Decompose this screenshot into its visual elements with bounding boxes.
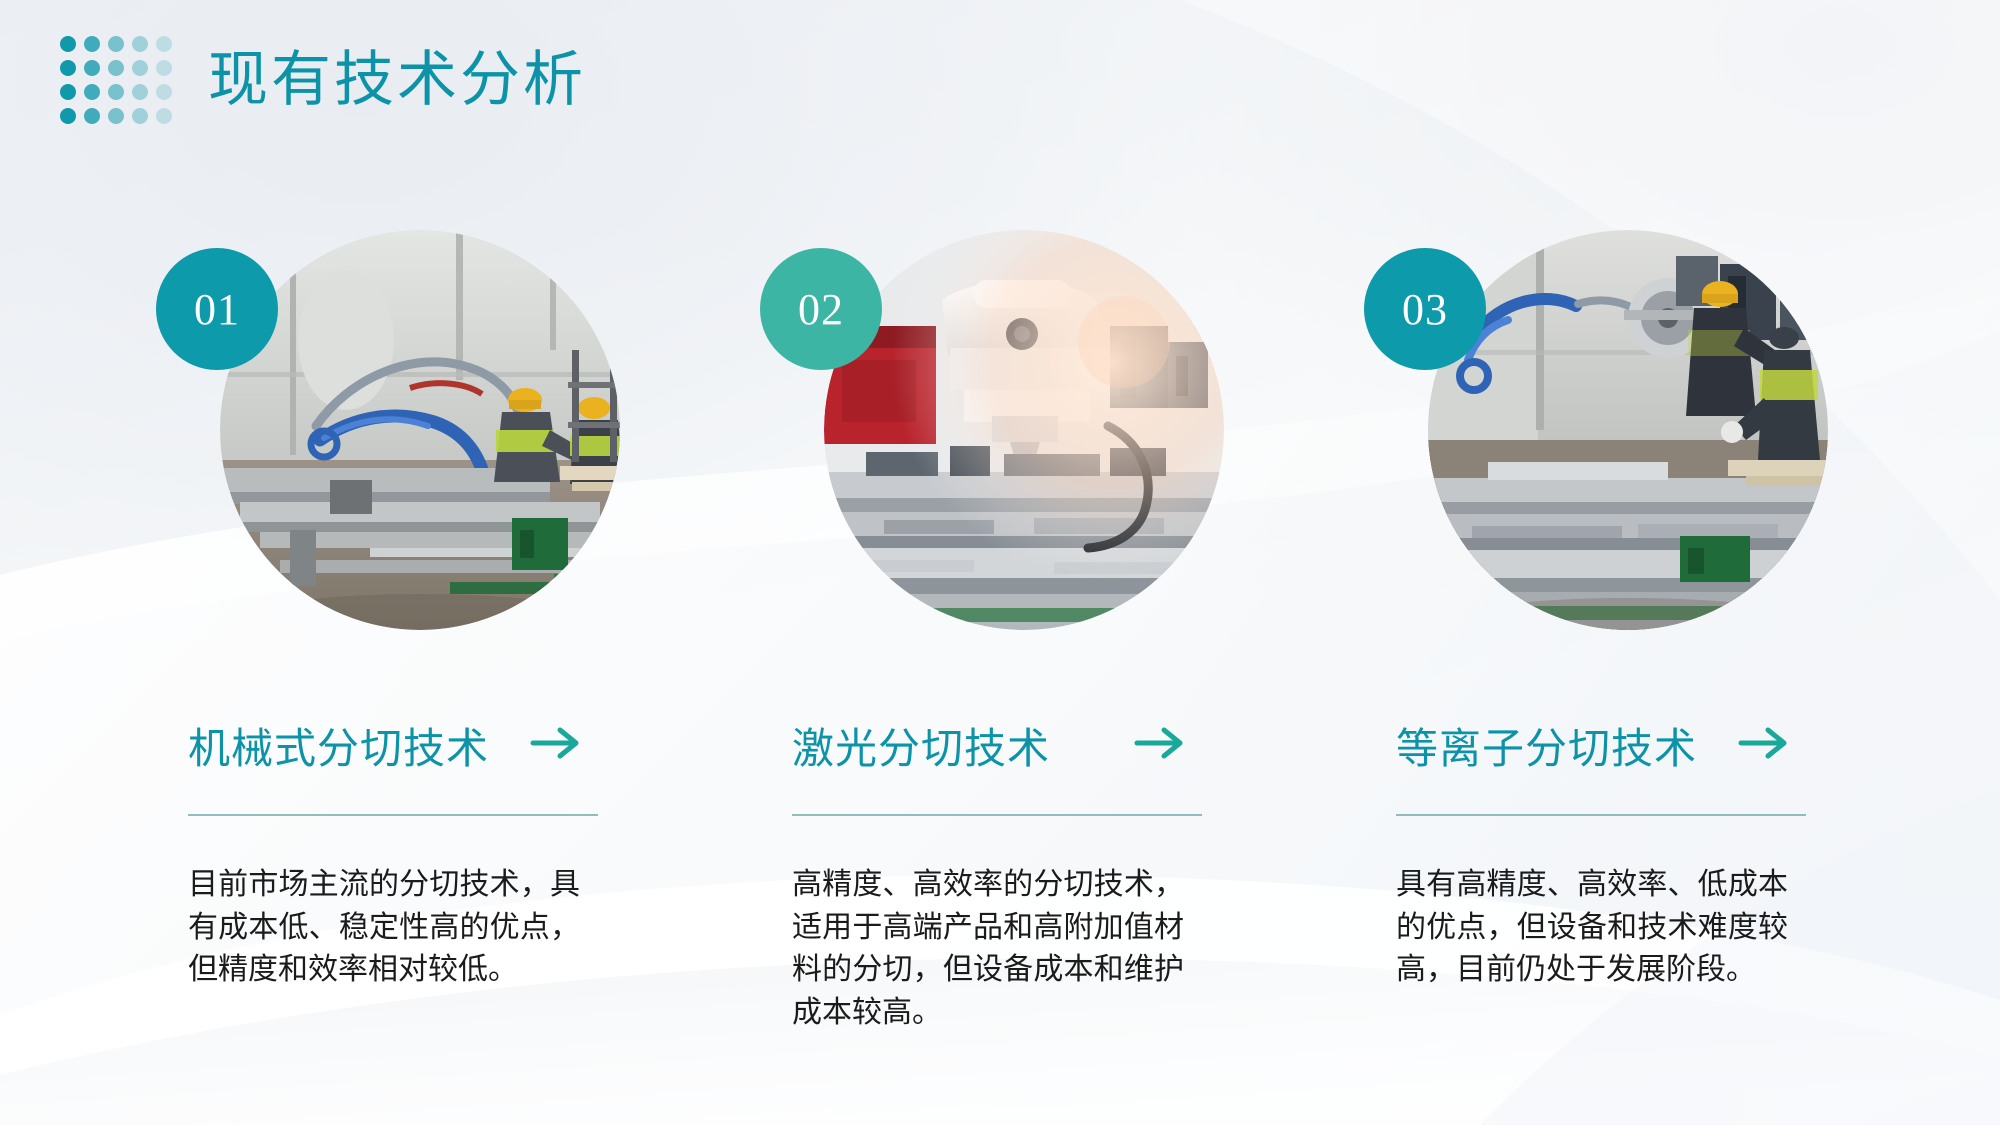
card-body-text: 目前市场主流的分切技术，具有成本低、稳定性高的优点，但精度和效率相对较低。	[188, 864, 580, 992]
technology-card-list: 01 机械式分切技术 目前市场主流的分切技术，具有成本低、稳定性高的优点，但精度…	[0, 0, 2000, 1125]
arrow-right-icon[interactable]	[530, 726, 582, 765]
technology-card[interactable]: 03 等离子分切技术 具有高精度、高效率、低成本的优点，但设备和技术难度较高，目…	[1386, 230, 1846, 992]
card-number-badge: 03	[1364, 248, 1486, 370]
arrow-right-icon[interactable]	[1738, 726, 1790, 765]
slide-canvas: 现有技术分析	[0, 0, 2000, 1125]
card-divider	[1396, 814, 1806, 816]
arrow-right-icon[interactable]	[1134, 726, 1186, 765]
card-title: 等离子分切技术	[1396, 715, 1697, 776]
card-photo	[220, 230, 620, 630]
card-divider	[188, 814, 598, 816]
card-body-text: 高精度、高效率的分切技术，适用于高端产品和高附加值材料的分切，但设备成本和维护成…	[792, 864, 1184, 1034]
card-media: 01	[220, 230, 620, 630]
card-header: 激光分切技术	[792, 715, 1192, 776]
card-title: 激光分切技术	[792, 715, 1050, 776]
card-photo	[824, 230, 1224, 630]
card-divider	[792, 814, 1202, 816]
card-media: 03	[1428, 230, 1828, 630]
technology-card[interactable]: 02 激光分切技术 高精度、高效率的分切技术，适用于高端产品和高附加值材料的分切…	[782, 230, 1242, 1034]
technology-card[interactable]: 01 机械式分切技术 目前市场主流的分切技术，具有成本低、稳定性高的优点，但精度…	[178, 230, 638, 992]
card-number-badge: 02	[760, 248, 882, 370]
card-header: 机械式分切技术	[188, 715, 588, 776]
card-body-text: 具有高精度、高效率、低成本的优点，但设备和技术难度较高，目前仍处于发展阶段。	[1396, 864, 1788, 992]
card-title: 机械式分切技术	[188, 715, 489, 776]
card-media: 02	[824, 230, 1224, 630]
card-number-badge: 01	[156, 248, 278, 370]
card-photo	[1428, 230, 1828, 630]
card-header: 等离子分切技术	[1396, 715, 1796, 776]
